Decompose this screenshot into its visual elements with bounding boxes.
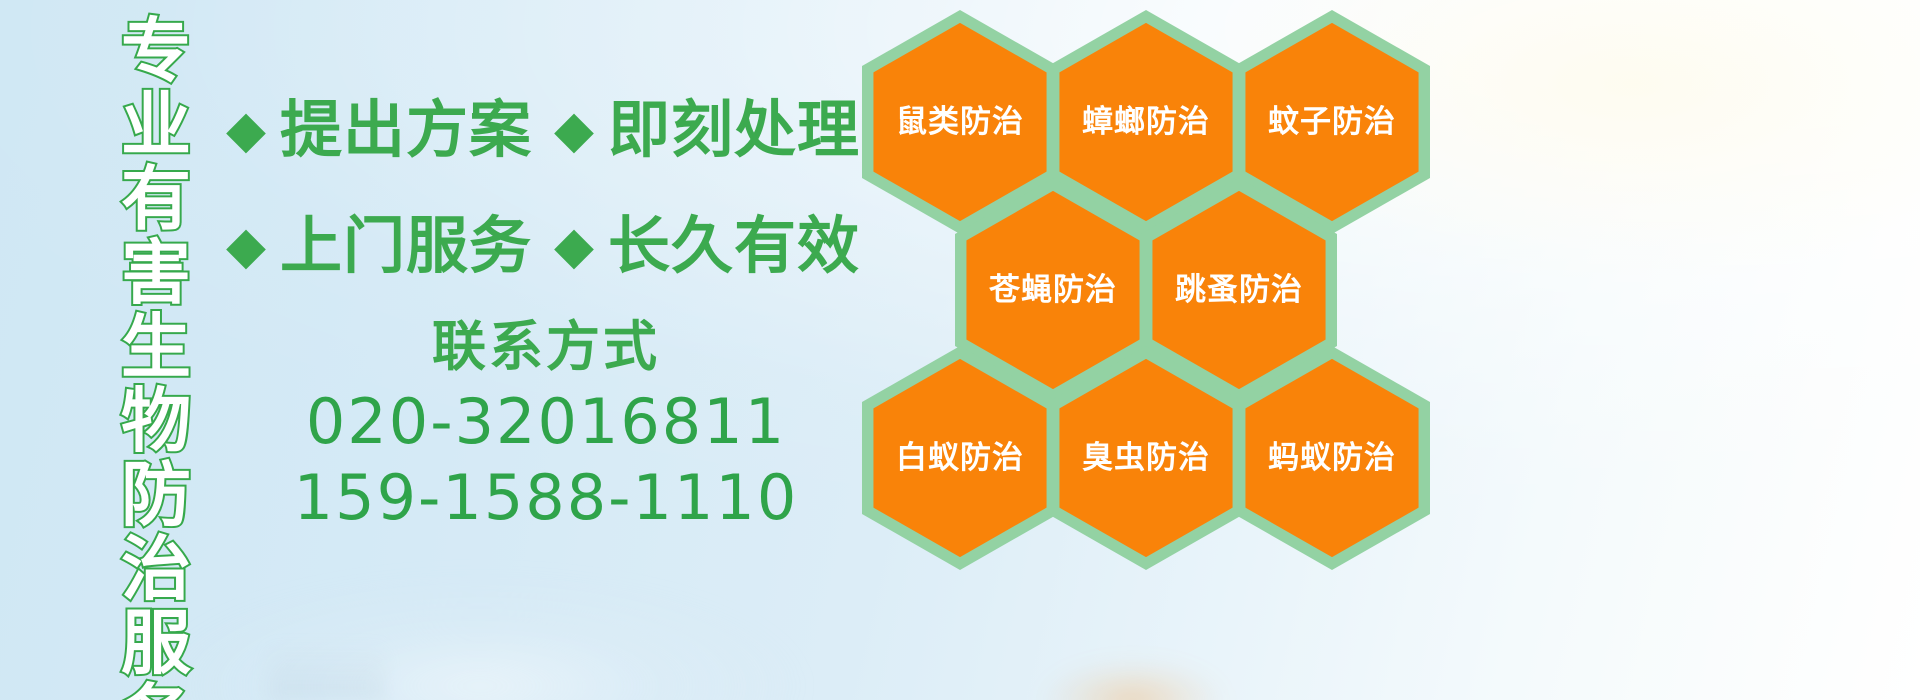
- feature-label: 提出方案: [280, 97, 532, 163]
- contact-label: 联系方式: [226, 316, 866, 378]
- vertical-headline-char: 生: [121, 310, 191, 384]
- feature-row: ◆ 提出方案 ◆ 即刻处理: [226, 80, 866, 180]
- service-label: 臭虫防治: [1048, 346, 1244, 570]
- vertical-headline-char: 专: [121, 14, 191, 88]
- feature-row: ◆ 上门服务 ◆ 长久有效: [226, 196, 866, 296]
- feature-item-immediate-handling: ◆ 即刻处理: [554, 97, 860, 163]
- service-honeycomb: 鼠类防治 蟑螂防治 蚊子防治 苍蝇防治 跳蚤防治 白蚁防治: [862, 0, 1462, 700]
- service-hex-bedbug[interactable]: 臭虫防治: [1048, 346, 1244, 570]
- diamond-bullet-icon: ◆: [226, 104, 266, 156]
- pest-control-banner: 专 业 有 害 生 物 防 治 服 务 ◆ 提出方案 ◆ 即刻处理: [0, 0, 1920, 700]
- vertical-headline: 专 业 有 害 生 物 防 治 服 务: [100, 14, 212, 686]
- middle-content-column: ◆ 提出方案 ◆ 即刻处理 ◆ 上门服务 ◆ 长久有效: [226, 0, 866, 700]
- vertical-headline-char: 务: [121, 680, 191, 700]
- contact-block: 联系方式 020-32016811 159-1588-1110: [226, 316, 866, 536]
- feature-item-long-lasting: ◆ 长久有效: [554, 213, 860, 279]
- vertical-headline-char: 服: [121, 606, 191, 680]
- phone-number-landline[interactable]: 020-32016811: [226, 384, 866, 460]
- feature-item-propose-plan: ◆ 提出方案: [226, 97, 532, 163]
- diamond-bullet-icon: ◆: [226, 220, 266, 272]
- service-hex-termite[interactable]: 白蚁防治: [862, 346, 1058, 570]
- vertical-headline-char: 物: [121, 384, 191, 458]
- feature-item-onsite-service: ◆ 上门服务: [226, 213, 532, 279]
- feature-label: 即刻处理: [608, 97, 860, 163]
- phone-number-mobile[interactable]: 159-1588-1110: [226, 460, 866, 536]
- vertical-headline-char: 害: [121, 236, 191, 310]
- vertical-headline-char: 业: [121, 88, 191, 162]
- service-label: 白蚁防治: [862, 346, 1058, 570]
- feature-label: 长久有效: [608, 213, 860, 279]
- feature-list: ◆ 提出方案 ◆ 即刻处理 ◆ 上门服务 ◆ 长久有效: [226, 80, 866, 296]
- service-hex-ant[interactable]: 蚂蚁防治: [1234, 346, 1430, 570]
- feature-label: 上门服务: [280, 213, 532, 279]
- diamond-bullet-icon: ◆: [554, 104, 594, 156]
- service-label: 蚂蚁防治: [1234, 346, 1430, 570]
- vertical-headline-char: 防: [121, 458, 191, 532]
- vertical-headline-char: 有: [121, 162, 191, 236]
- diamond-bullet-icon: ◆: [554, 220, 594, 272]
- vertical-headline-char: 治: [121, 532, 191, 606]
